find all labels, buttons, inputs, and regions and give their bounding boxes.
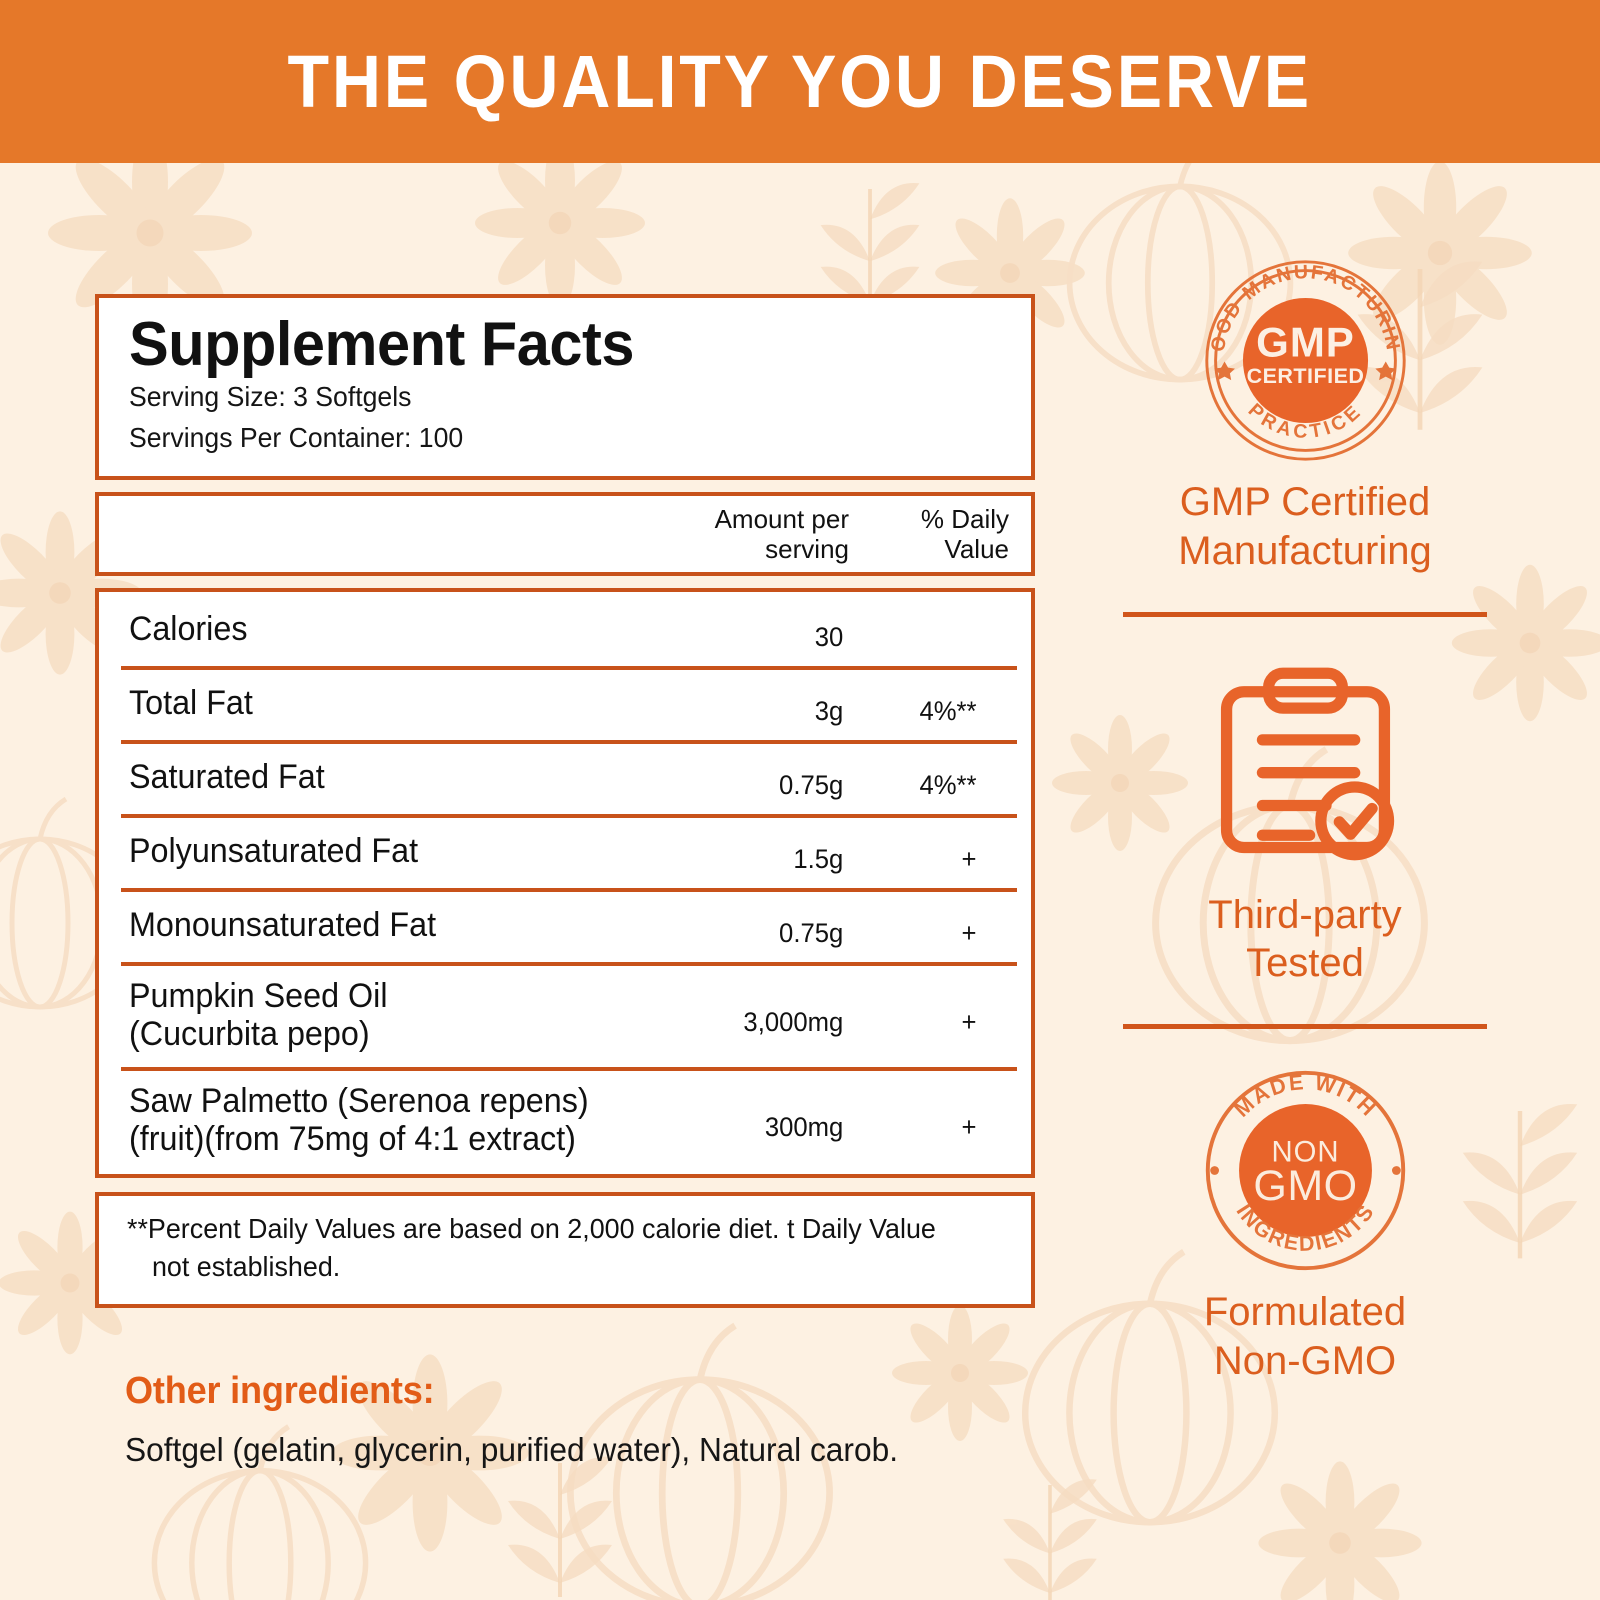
table-row: Saw Palmetto (Serenoa repens) (fruit)(fr…: [99, 1067, 1031, 1172]
nutrient-amount: 300mg: [625, 1096, 844, 1143]
badge-caption-non-gmo: Formulated Non-GMO: [1095, 1288, 1515, 1386]
table-row: Total Fat 3g 4%**: [99, 666, 1031, 740]
table-row: Monounsaturated Fat 0.75g +: [99, 888, 1031, 962]
nutrient-daily-value: +: [853, 828, 1005, 875]
nutrient-amount: 30: [625, 606, 844, 653]
nutrient-name: Monounsaturated Fat: [129, 900, 595, 950]
nutrient-daily-value: +: [853, 991, 1005, 1038]
page-title: Supplement Facts: [129, 312, 966, 377]
table-row: Calories 30: [99, 592, 1031, 666]
serving-size: Serving Size: 3 Softgels: [129, 377, 957, 418]
nutrient-name: Saw Palmetto (Serenoa repens) (fruit)(fr…: [129, 1076, 595, 1164]
column-header-amount: Amount per serving: [619, 504, 849, 565]
badge-divider: [1123, 1024, 1487, 1029]
trust-badges-column: GOOD MANUFACTURING PRACTICE GMP CERTIFIE…: [1095, 253, 1515, 1386]
nutrient-daily-value: [853, 621, 1005, 637]
badge-caption-third-party-line2: Tested: [1095, 939, 1515, 988]
nutrient-name-main: Saw Palmetto (Serenoa repens): [129, 1082, 589, 1120]
table-row: Saturated Fat 0.75g 4%**: [99, 740, 1031, 814]
column-header-dv-line1: % Daily: [921, 504, 1009, 534]
nutrient-daily-value: +: [853, 1096, 1005, 1143]
page-body: Supplement Facts Serving Size: 3 Softgel…: [0, 163, 1600, 1600]
badge-caption-non-gmo-line1: Formulated: [1204, 1290, 1406, 1334]
nutrient-amount: 0.75g: [625, 902, 844, 949]
other-ingredients-title: Other ingredients:: [125, 1370, 990, 1413]
nutrient-amount: 3,000mg: [625, 991, 844, 1038]
badge-third-party-tested: Third-party Tested: [1095, 651, 1515, 989]
badge-gmp-certified: GOOD MANUFACTURING PRACTICE GMP CERTIFIE…: [1095, 253, 1515, 576]
nutrient-name: Total Fat: [129, 678, 595, 728]
other-ingredients-body: Softgel (gelatin, glycerin, purified wat…: [125, 1431, 999, 1469]
non-gmo-seal-icon: MADE WITH INGREDIENTS NON GMO: [1095, 1063, 1515, 1278]
nutrient-name: Calories: [129, 604, 595, 654]
nutrient-daily-value: 4%**: [853, 680, 1005, 727]
table-row: Pumpkin Seed Oil (Cucurbita pepo) 3,000m…: [99, 962, 1031, 1067]
header-banner: THE QUALITY YOU DESERVE: [0, 0, 1600, 163]
nutrient-amount: 3g: [625, 680, 844, 727]
nutrient-name: Saturated Fat: [129, 752, 595, 802]
badge-divider: [1123, 612, 1487, 617]
nutrient-name-sub: (Cucurbita pepo): [129, 1015, 595, 1053]
footnote: **Percent Daily Values are based on 2,00…: [127, 1210, 970, 1286]
svg-text:GMO: GMO: [1253, 1162, 1357, 1210]
svg-text:GMP: GMP: [1256, 319, 1355, 366]
nutrient-name: Polyunsaturated Fat: [129, 826, 595, 876]
facts-header-box: Supplement Facts Serving Size: 3 Softgel…: [95, 294, 1035, 480]
svg-text:CERTIFIED: CERTIFIED: [1246, 364, 1364, 388]
nutrient-table: Calories 30 Total Fat 3g 4%** Saturated …: [95, 588, 1035, 1178]
nutrient-name: Pumpkin Seed Oil (Cucurbita pepo): [129, 971, 595, 1059]
column-header-amount-line2: serving: [765, 534, 849, 564]
nutrient-amount: 1.5g: [625, 828, 844, 875]
badge-caption-gmp-line2: Manufacturing: [1095, 527, 1515, 576]
nutrient-name-sub: (fruit)(from 75mg of 4:1 extract): [129, 1120, 595, 1158]
column-header-daily-value: % Daily Value: [849, 504, 1009, 565]
servings-per-container: Servings Per Container: 100: [129, 418, 957, 459]
footnote-box: **Percent Daily Values are based on 2,00…: [95, 1192, 1035, 1308]
nutrient-name-main: Pumpkin Seed Oil: [129, 977, 388, 1015]
badge-caption-third-party-line1: Third-party: [1208, 893, 1401, 937]
other-ingredients-section: Other ingredients: Softgel (gelatin, gly…: [95, 1370, 1035, 1469]
table-column-headers: Amount per serving % Daily Value: [95, 492, 1035, 576]
footnote-line1: **Percent Daily Values are based on 2,00…: [127, 1213, 936, 1244]
supplement-facts-panel: Supplement Facts Serving Size: 3 Softgel…: [95, 294, 1035, 1469]
nutrient-daily-value: 4%**: [853, 754, 1005, 801]
footnote-line2: not established.: [127, 1248, 970, 1286]
badge-caption-gmp: GMP Certified Manufacturing: [1095, 478, 1515, 576]
badge-caption-third-party: Third-party Tested: [1095, 891, 1515, 989]
table-row: Polyunsaturated Fat 1.5g +: [99, 814, 1031, 888]
badge-caption-non-gmo-line2: Non-GMO: [1095, 1337, 1515, 1386]
badge-caption-gmp-line1: GMP Certified: [1180, 480, 1430, 524]
nutrient-daily-value: +: [853, 902, 1005, 949]
nutrient-amount: 0.75g: [625, 754, 844, 801]
column-header-amount-line1: Amount per: [715, 504, 849, 534]
gmp-certified-seal-icon: GOOD MANUFACTURING PRACTICE GMP CERTIFIE…: [1095, 253, 1515, 468]
badge-non-gmo: MADE WITH INGREDIENTS NON GMO Formulated…: [1095, 1063, 1515, 1386]
banner-title: THE QUALITY YOU DESERVE: [288, 39, 1312, 124]
column-header-dv-line2: Value: [944, 534, 1009, 564]
clipboard-check-icon: [1095, 651, 1515, 881]
